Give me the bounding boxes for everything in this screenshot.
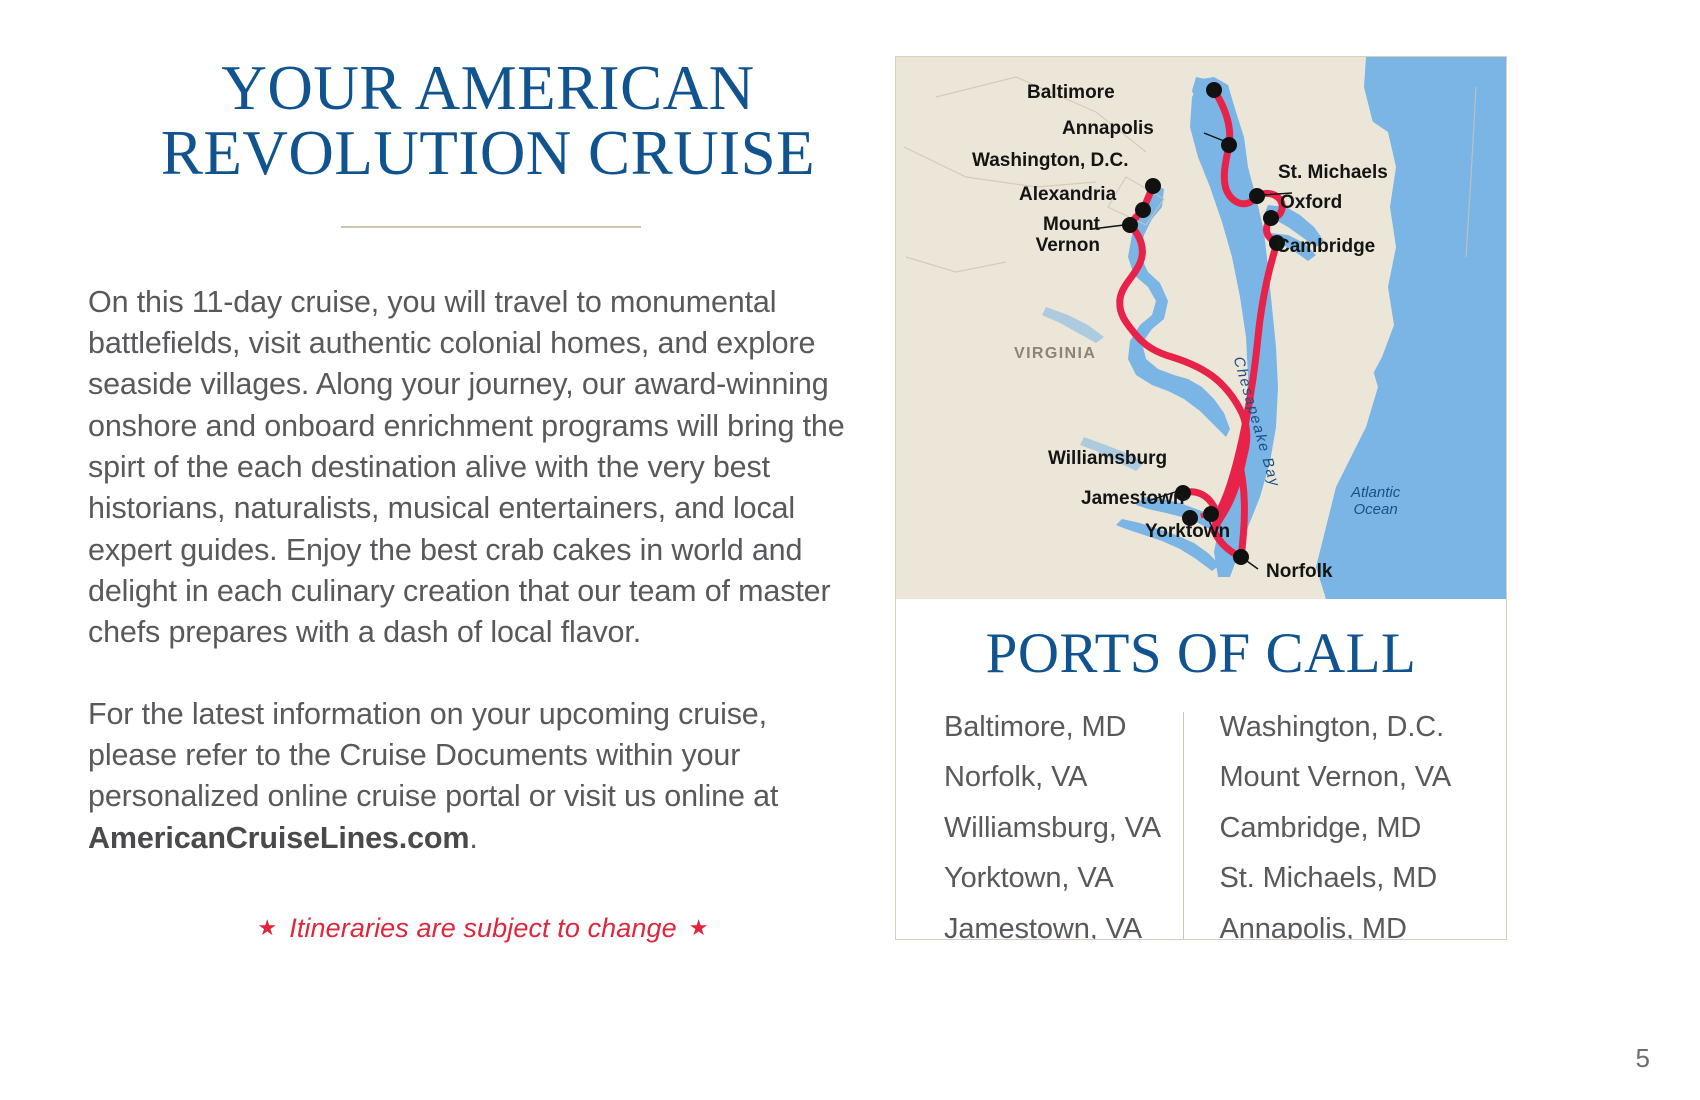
map-label-oxford: Oxford [1280, 193, 1342, 214]
map-label-annapolis: Annapolis [1062, 119, 1154, 140]
list-item: Annapolis, MD [1220, 914, 1459, 940]
map-label-williamsburg: Williamsburg [1048, 449, 1167, 470]
map-label-st-michaels: St. Michaels [1278, 163, 1388, 184]
ports-column-left: Baltimore, MD Norfolk, VA Williamsburg, … [944, 712, 1183, 940]
left-content-column: YOUR AMERICAN REVOLUTION CRUISE On this … [88, 56, 858, 944]
map-label-mount-vernon: Mount Vernon [1018, 215, 1100, 256]
map-label-washington-dc: Washington, D.C. [972, 151, 1129, 172]
page-title-line-1: YOUR AMERICAN [118, 56, 858, 121]
map-label-atlantic-line2: Ocean [1354, 501, 1398, 518]
title-divider [341, 226, 641, 228]
list-item: Cambridge, MD [1220, 813, 1459, 843]
info-paragraph-period: . [469, 821, 477, 855]
list-item: Washington, D.C. [1220, 712, 1459, 742]
star-icon-left: ★ [257, 915, 277, 940]
map-label-alexandria: Alexandria [1019, 185, 1116, 206]
map-label-virginia: VIRGINIA [1014, 345, 1096, 362]
itinerary-notice-text: Itineraries are subject to change [289, 913, 677, 943]
map-label-mount-vernon-line2: Vernon [1036, 235, 1100, 256]
list-item: Yorktown, VA [944, 863, 1183, 893]
list-item: Williamsburg, VA [944, 813, 1183, 843]
list-item: Jamestown, VA [944, 914, 1183, 940]
map-label-atlantic-line1: Atlantic [1351, 484, 1400, 501]
map-label-jamestown: Jamestown [1081, 489, 1184, 510]
list-item: Baltimore, MD [944, 712, 1183, 742]
list-item: Norfolk, VA [944, 762, 1183, 792]
map-label-cambridge: Cambridge [1276, 237, 1375, 258]
itinerary-change-notice: ★Itineraries are subject to change★ [88, 913, 858, 944]
map-label-yorktown: Yorktown [1145, 522, 1230, 543]
page-title-line-2: REVOLUTION CRUISE [118, 121, 858, 186]
map-graphic [896, 57, 1506, 599]
page-number: 5 [1636, 1043, 1650, 1074]
page-title: YOUR AMERICAN REVOLUTION CRUISE [88, 56, 858, 186]
intro-paragraph: On this 11-day cruise, you will travel t… [88, 282, 858, 654]
ports-card: Baltimore Annapolis Washington, D.C. Ale… [895, 56, 1507, 940]
map-label-norfolk: Norfolk [1266, 562, 1333, 583]
map-label-mount-vernon-line1: Mount [1043, 214, 1100, 235]
star-icon-right: ★ [689, 915, 709, 940]
map-label-atlantic-ocean: Atlantic Ocean [1351, 485, 1400, 519]
info-paragraph-text: For the latest information on your upcom… [88, 697, 778, 814]
cruise-route-map[interactable]: Baltimore Annapolis Washington, D.C. Ale… [896, 57, 1506, 599]
info-paragraph: For the latest information on your upcom… [88, 694, 858, 859]
website-link[interactable]: AmericanCruiseLines.com [88, 821, 469, 855]
ports-column-right: Washington, D.C. Mount Vernon, VA Cambri… [1183, 712, 1459, 940]
list-item: Mount Vernon, VA [1220, 762, 1459, 792]
map-label-baltimore: Baltimore [1027, 83, 1115, 104]
ports-of-call-title: PORTS OF CALL [926, 621, 1476, 686]
ports-of-call-list: Baltimore, MD Norfolk, VA Williamsburg, … [926, 712, 1476, 940]
ports-of-call-section: PORTS OF CALL Baltimore, MD Norfolk, VA … [896, 621, 1506, 940]
list-item: St. Michaels, MD [1220, 863, 1459, 893]
